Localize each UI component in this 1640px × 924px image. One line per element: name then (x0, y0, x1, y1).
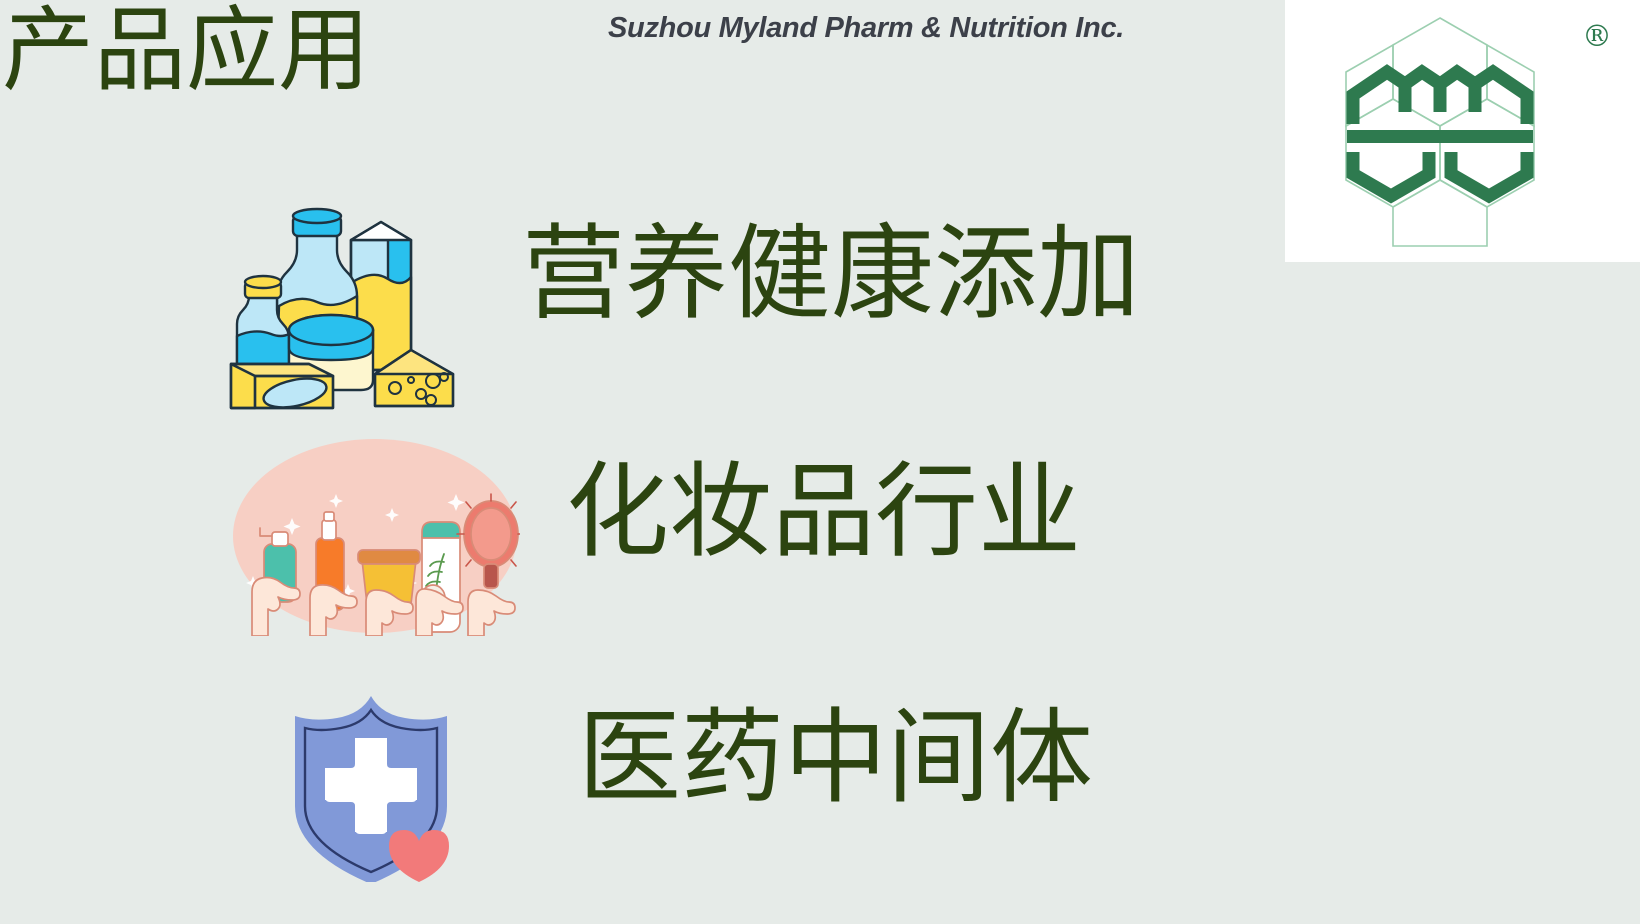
application-row-pharma: 医药中间体 (0, 682, 1640, 924)
medical-shield-heart-icon (272, 686, 470, 882)
application-label-nutrition: 营养健康添加 (522, 222, 1140, 325)
dairy-products-icon (225, 178, 460, 413)
company-name: Suzhou Myland Pharm & Nutrition Inc. (608, 12, 1124, 45)
cosmetics-hands-icon (230, 436, 520, 636)
application-row-cosmetics: 化妆品行业 (0, 432, 1640, 647)
application-label-pharma: 医药中间体 (578, 706, 1093, 809)
application-row-nutrition: 营养健康添加 (0, 170, 1640, 420)
application-label-cosmetics: 化妆品行业 (566, 460, 1081, 563)
page-title: 产品应用 (2, 2, 370, 101)
registered-trademark-icon: ® (1582, 22, 1612, 52)
